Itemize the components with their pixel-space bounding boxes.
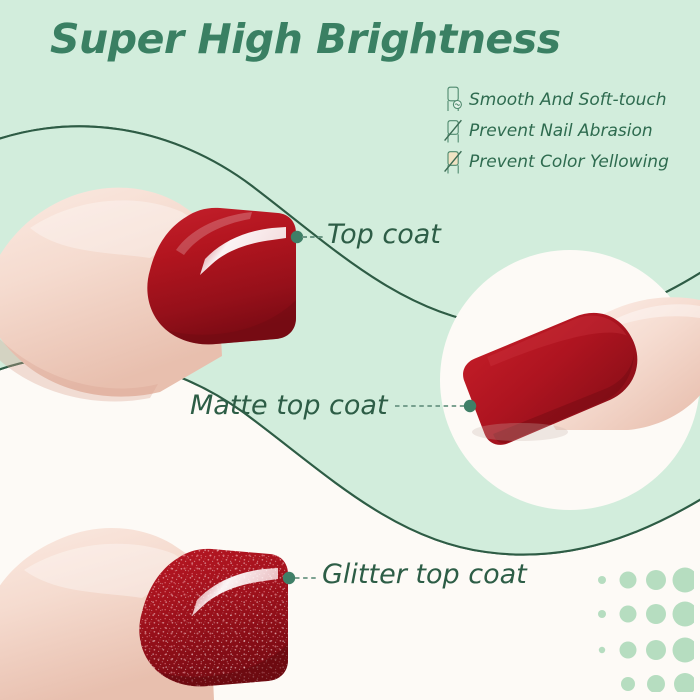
feature-list: Smooth And Soft-touch Prevent Nail Abras… bbox=[442, 84, 700, 177]
nail-no-abrasion-icon bbox=[442, 117, 464, 144]
feature-label: Smooth And Soft-touch bbox=[469, 90, 667, 110]
callout-label-top-coat: Top coat bbox=[327, 219, 441, 250]
callout-dot-matte bbox=[464, 400, 476, 412]
nail-no-yellow-icon bbox=[442, 148, 464, 175]
callout-label-matte-top-coat: Matte top coat bbox=[190, 390, 388, 421]
callout-dot-top-coat bbox=[291, 231, 303, 243]
callout-label-glitter-top-coat: Glitter top coat bbox=[322, 559, 527, 590]
feature-row-abrasion: Prevent Nail Abrasion bbox=[442, 115, 700, 146]
feature-label: Prevent Nail Abrasion bbox=[469, 121, 653, 141]
nail-matte-top-coat bbox=[440, 250, 700, 510]
callout-dot-glitter bbox=[283, 572, 295, 584]
feature-row-smooth: Smooth And Soft-touch bbox=[442, 84, 700, 115]
page-title: Super High Brightness bbox=[50, 14, 561, 64]
product-feature-image: Super High Brightness Smooth And Soft-to… bbox=[0, 0, 700, 700]
nail-smooth-icon bbox=[442, 86, 464, 113]
feature-row-yellowing: Prevent Color Yellowing bbox=[442, 146, 700, 177]
feature-label: Prevent Color Yellowing bbox=[469, 152, 669, 172]
nail-glitter-top-coat bbox=[0, 528, 295, 700]
